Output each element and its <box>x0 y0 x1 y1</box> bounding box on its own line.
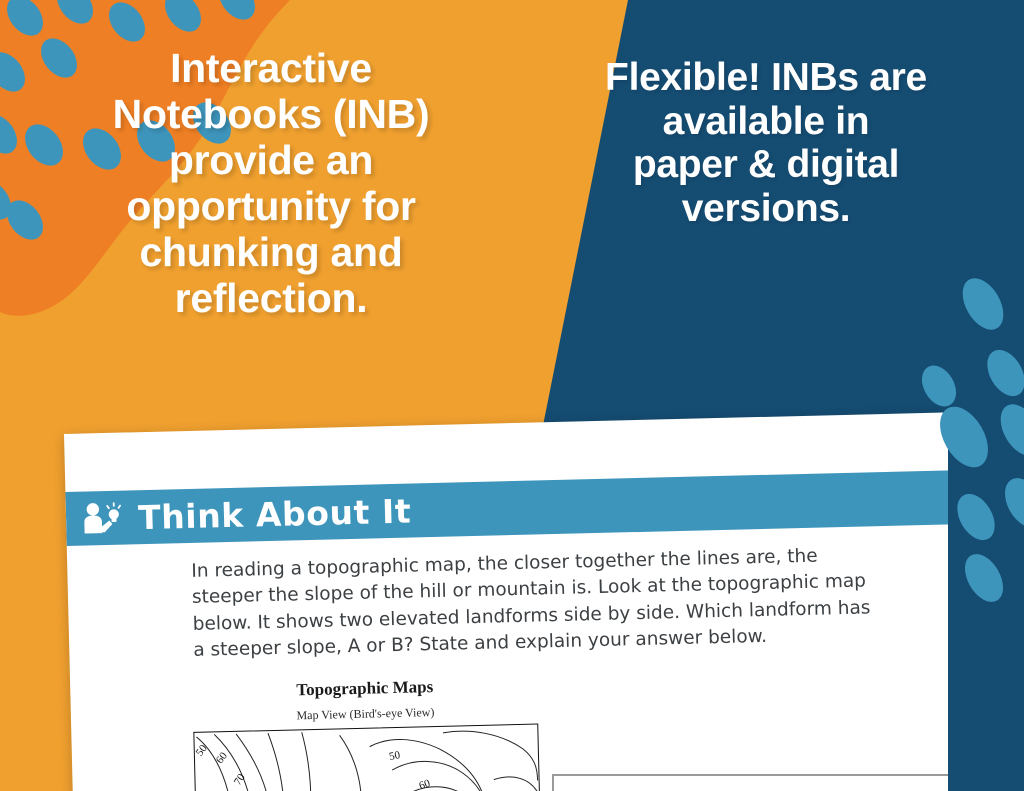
topographic-map-figure: Topographic Maps Map View (Bird's-eye Vi… <box>192 675 542 791</box>
contour-lines: 50 60 70 50 60 70 80 <box>194 725 541 791</box>
worksheet-page: Think About It In reading a topographic … <box>64 412 963 791</box>
contour-label: 50 <box>194 742 210 758</box>
headline-right: Flexible! INBs are available in paper & … <box>556 56 976 231</box>
think-about-it-title: Think About It <box>138 491 412 537</box>
worksheet-page-secondary <box>552 774 952 791</box>
worksheet-body-text: In reading a topographic map, the closer… <box>191 540 953 664</box>
headline-left: Interactive Notebooks (INB) provide an o… <box>56 46 486 321</box>
topo-figure-subtitle: Map View (Bird's-eye View) <box>193 703 538 726</box>
topo-figure-title: Topographic Maps <box>192 675 537 703</box>
think-about-it-header: Think About It <box>65 470 956 546</box>
contour-label: 60 <box>214 750 230 766</box>
contour-label: 50 <box>388 749 402 763</box>
person-with-lightbulb-icon <box>82 500 127 537</box>
topo-map-box: 50 60 70 50 60 70 80 <box>193 724 542 791</box>
contour-label: 60 <box>417 777 432 791</box>
slide-canvas: Interactive Notebooks (INB) provide an o… <box>0 0 1024 791</box>
